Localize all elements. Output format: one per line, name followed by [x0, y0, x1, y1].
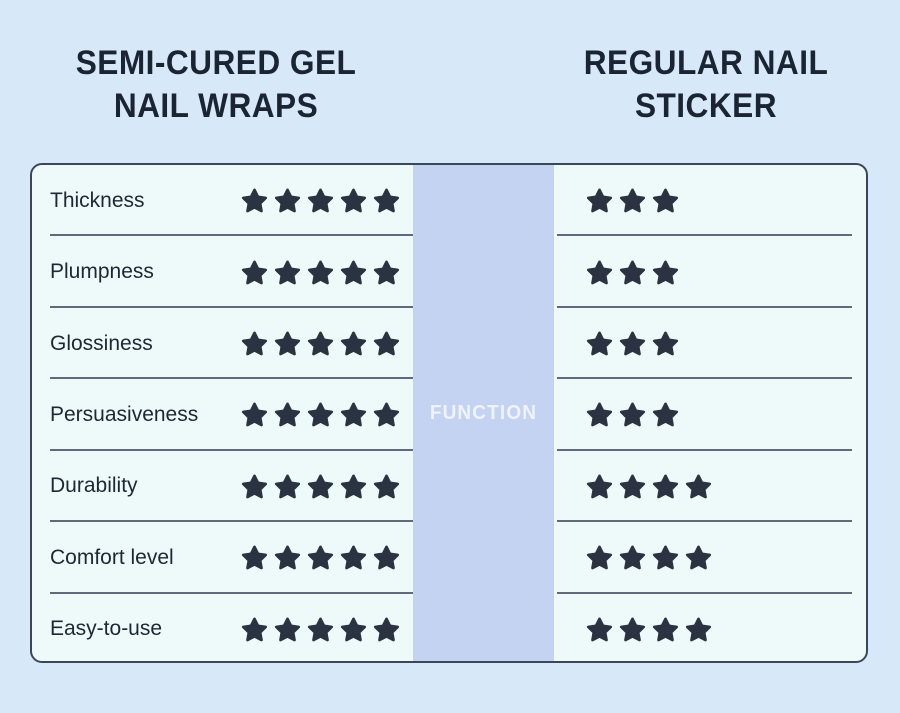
- star-icon: [339, 615, 368, 644]
- star-icon: [306, 329, 335, 358]
- star-icon: [684, 472, 713, 501]
- star-icon: [372, 329, 401, 358]
- star-icon: [240, 186, 269, 215]
- star-rating: [240, 329, 401, 358]
- star-icon: [651, 186, 680, 215]
- row-label: Comfort level: [50, 546, 250, 570]
- star-icon: [339, 472, 368, 501]
- star-icon: [618, 543, 647, 572]
- column-header-left: SEMI-CURED GEL NAIL WRAPS: [30, 42, 402, 128]
- star-icon: [240, 258, 269, 287]
- star-rating: [240, 543, 401, 572]
- star-icon: [339, 400, 368, 429]
- star-icon: [372, 543, 401, 572]
- row-label: Persuasiveness: [50, 403, 250, 427]
- star-icon: [372, 186, 401, 215]
- star-icon: [618, 472, 647, 501]
- star-icon: [339, 258, 368, 287]
- star-icon: [585, 615, 614, 644]
- star-icon: [339, 329, 368, 358]
- star-icon: [585, 543, 614, 572]
- star-icon: [273, 186, 302, 215]
- star-icon: [372, 472, 401, 501]
- column-header-left-line2: NAIL WRAPS: [30, 85, 402, 128]
- function-band: FUNCTION: [413, 165, 554, 661]
- star-icon: [306, 615, 335, 644]
- star-icon: [273, 258, 302, 287]
- row-label: Thickness: [50, 189, 250, 213]
- star-icon: [684, 615, 713, 644]
- star-icon: [273, 400, 302, 429]
- star-rating: [585, 400, 680, 429]
- star-icon: [585, 400, 614, 429]
- star-icon: [651, 329, 680, 358]
- star-icon: [618, 258, 647, 287]
- row-label: Plumpness: [50, 260, 250, 284]
- star-icon: [306, 472, 335, 501]
- comparison-table: ThicknessPlumpnessGlossinessPersuasivene…: [30, 163, 868, 663]
- star-icon: [618, 400, 647, 429]
- star-icon: [372, 258, 401, 287]
- row-label: Glossiness: [50, 332, 250, 356]
- star-icon: [651, 472, 680, 501]
- star-icon: [372, 615, 401, 644]
- star-rating: [585, 472, 713, 501]
- star-rating: [240, 186, 401, 215]
- row-label: Easy-to-use: [50, 617, 250, 641]
- star-icon: [651, 615, 680, 644]
- star-icon: [240, 329, 269, 358]
- star-icon: [618, 186, 647, 215]
- star-icon: [651, 400, 680, 429]
- star-icon: [240, 400, 269, 429]
- star-rating: [585, 615, 713, 644]
- star-icon: [273, 543, 302, 572]
- star-rating: [585, 186, 680, 215]
- star-icon: [240, 615, 269, 644]
- star-icon: [618, 329, 647, 358]
- star-rating: [585, 543, 713, 572]
- star-icon: [240, 472, 269, 501]
- star-icon: [684, 543, 713, 572]
- star-icon: [306, 258, 335, 287]
- star-icon: [618, 615, 647, 644]
- star-rating: [240, 400, 401, 429]
- star-icon: [372, 400, 401, 429]
- column-headers: SEMI-CURED GEL NAIL WRAPS REGULAR NAIL S…: [0, 0, 900, 163]
- star-icon: [339, 543, 368, 572]
- star-rating: [240, 258, 401, 287]
- star-icon: [306, 543, 335, 572]
- star-icon: [339, 186, 368, 215]
- column-header-right-line1: REGULAR NAIL: [520, 42, 892, 85]
- function-band-label: FUNCTION: [430, 402, 537, 425]
- star-icon: [585, 186, 614, 215]
- column-header-right-line2: STICKER: [520, 85, 892, 128]
- star-icon: [273, 615, 302, 644]
- star-icon: [585, 329, 614, 358]
- star-icon: [651, 258, 680, 287]
- star-icon: [585, 472, 614, 501]
- star-icon: [306, 186, 335, 215]
- star-icon: [273, 329, 302, 358]
- column-header-left-line1: SEMI-CURED GEL: [30, 42, 402, 85]
- star-rating: [240, 472, 401, 501]
- star-rating: [585, 329, 680, 358]
- star-icon: [306, 400, 335, 429]
- star-icon: [585, 258, 614, 287]
- column-header-right: REGULAR NAIL STICKER: [520, 42, 892, 128]
- star-icon: [273, 472, 302, 501]
- star-rating: [240, 615, 401, 644]
- star-rating: [585, 258, 680, 287]
- star-icon: [651, 543, 680, 572]
- row-label: Durability: [50, 474, 250, 498]
- star-icon: [240, 543, 269, 572]
